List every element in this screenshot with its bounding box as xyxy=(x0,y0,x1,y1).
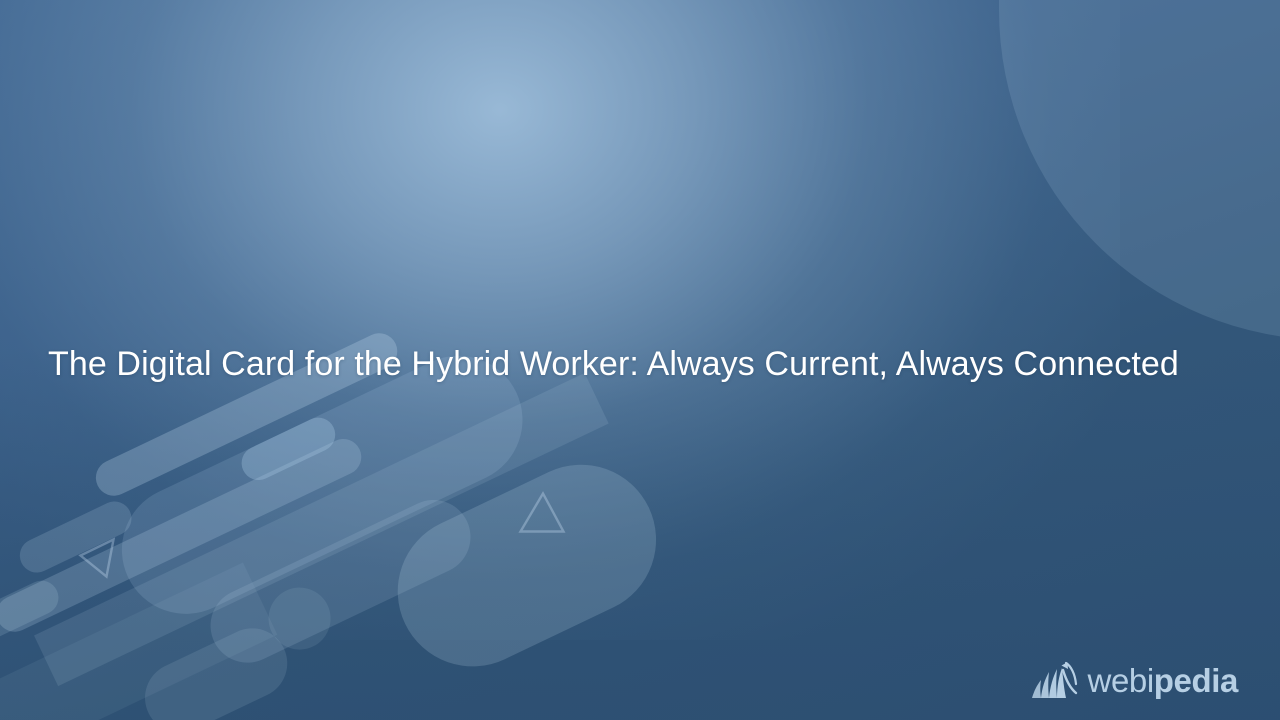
presentation-slide: The Digital Card for the Hybrid Worker: … xyxy=(0,0,1280,720)
brand-logo-text: webipedia xyxy=(1088,664,1238,697)
webipedia-mark-icon xyxy=(1030,658,1082,702)
slide-title: The Digital Card for the Hybrid Worker: … xyxy=(48,341,1238,387)
triangle-left-icon xyxy=(74,536,122,582)
brand-name-bold: pedia xyxy=(1154,662,1238,699)
brand-name-light: webi xyxy=(1088,662,1154,699)
triangle-up-icon xyxy=(512,487,570,541)
brand-logo: webipedia xyxy=(1030,658,1238,702)
